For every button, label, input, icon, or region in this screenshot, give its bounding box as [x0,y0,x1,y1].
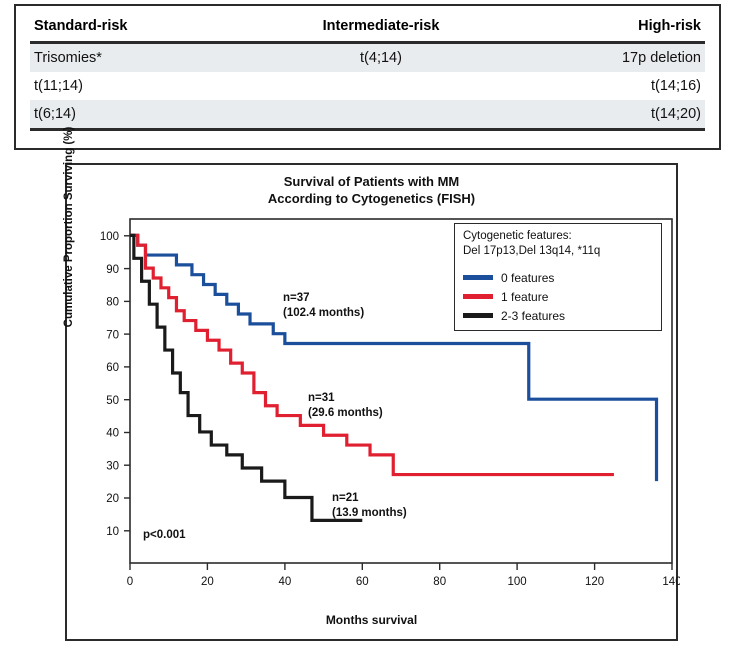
annotation-0-features: n=37 (102.4 months) [283,291,364,321]
annotation-1-feature: n=31 (29.6 months) [308,391,383,421]
annotation-n: n=31 [308,391,383,406]
svg-text:120: 120 [585,576,604,588]
svg-text:60: 60 [356,576,369,588]
legend-swatch-blue [463,275,493,280]
chart-legend: Cytogenetic features: Del 17p13,Del 13q1… [454,223,662,331]
survival-figure: Survival of Patients with MM According t… [65,163,678,641]
cell-standard-risk: Trisomies* [30,43,260,73]
svg-text:140: 140 [662,576,680,588]
svg-text:100: 100 [508,576,527,588]
legend-item-1-feature: 1 feature [463,287,653,306]
x-axis-title: Months survival [67,613,676,627]
y-axis-title: Cumulative Proportion Surviving (%) [63,117,75,337]
cell-intermediate-risk [260,100,503,130]
svg-text:40: 40 [106,428,119,440]
cell-standard-risk: t(11;14) [30,72,260,100]
annotation-median: (29.6 months) [308,406,383,421]
svg-text:20: 20 [201,576,214,588]
legend-item-0-features: 0 features [463,268,653,287]
svg-text:10: 10 [106,526,119,538]
legend-label: 2-3 features [501,309,565,323]
column-header-high-risk: High-risk [503,12,706,43]
annotation-n: n=37 [283,291,364,306]
legend-heading: Cytogenetic features: Del 17p13,Del 13q1… [463,229,653,259]
table-row: t(11;14) t(14;16) [30,72,705,100]
table-row: Trisomies* t(4;14) 17p deletion [30,43,705,73]
legend-item-2-3-features: 2-3 features [463,306,653,325]
svg-text:90: 90 [106,264,119,276]
svg-text:60: 60 [106,362,119,374]
svg-text:20: 20 [106,493,119,505]
table-header-row: Standard-risk Intermediate-risk High-ris… [30,12,705,43]
annotation-median: (102.4 months) [283,306,364,321]
svg-text:70: 70 [106,329,119,341]
svg-text:40: 40 [279,576,292,588]
svg-text:80: 80 [106,297,119,309]
p-value-label: p<0.001 [143,529,186,541]
svg-text:80: 80 [433,576,446,588]
cell-intermediate-risk: t(4;14) [260,43,503,73]
svg-text:30: 30 [106,460,119,472]
cell-high-risk: t(14;16) [503,72,706,100]
svg-text:0: 0 [127,576,133,588]
svg-text:100: 100 [100,231,119,243]
x-axis-tick-labels: 0 20 40 60 80 100 120 140 [127,576,680,588]
annotation-median: (13.9 months) [332,506,407,521]
legend-heading-line2: Del 17p13,Del 13q14, *11q [463,244,653,259]
cell-intermediate-risk [260,72,503,100]
column-header-intermediate-risk: Intermediate-risk [260,12,503,43]
survival-curve-2-3-features [130,235,362,520]
column-header-standard-risk: Standard-risk [30,12,260,43]
risk-stratification-table: Standard-risk Intermediate-risk High-ris… [14,4,721,150]
cell-high-risk: t(14;20) [503,100,706,130]
y-axis-ticks [124,236,130,531]
legend-label: 0 features [501,271,554,285]
annotation-n: n=21 [332,491,407,506]
annotation-2-3-features: n=21 (13.9 months) [332,491,407,521]
cell-high-risk: 17p deletion [503,43,706,73]
legend-swatch-black [463,313,493,318]
risk-table: Standard-risk Intermediate-risk High-ris… [30,12,705,131]
legend-swatch-red [463,294,493,299]
legend-label: 1 feature [501,290,548,304]
svg-text:50: 50 [106,395,119,407]
x-axis-ticks [130,563,672,570]
y-axis-tick-labels: 100 90 80 70 60 50 40 30 20 10 [100,231,119,538]
legend-heading-line1: Cytogenetic features: [463,229,653,244]
table-row: t(6;14) t(14;20) [30,100,705,130]
legend-items: 0 features 1 feature 2-3 features [463,268,653,325]
